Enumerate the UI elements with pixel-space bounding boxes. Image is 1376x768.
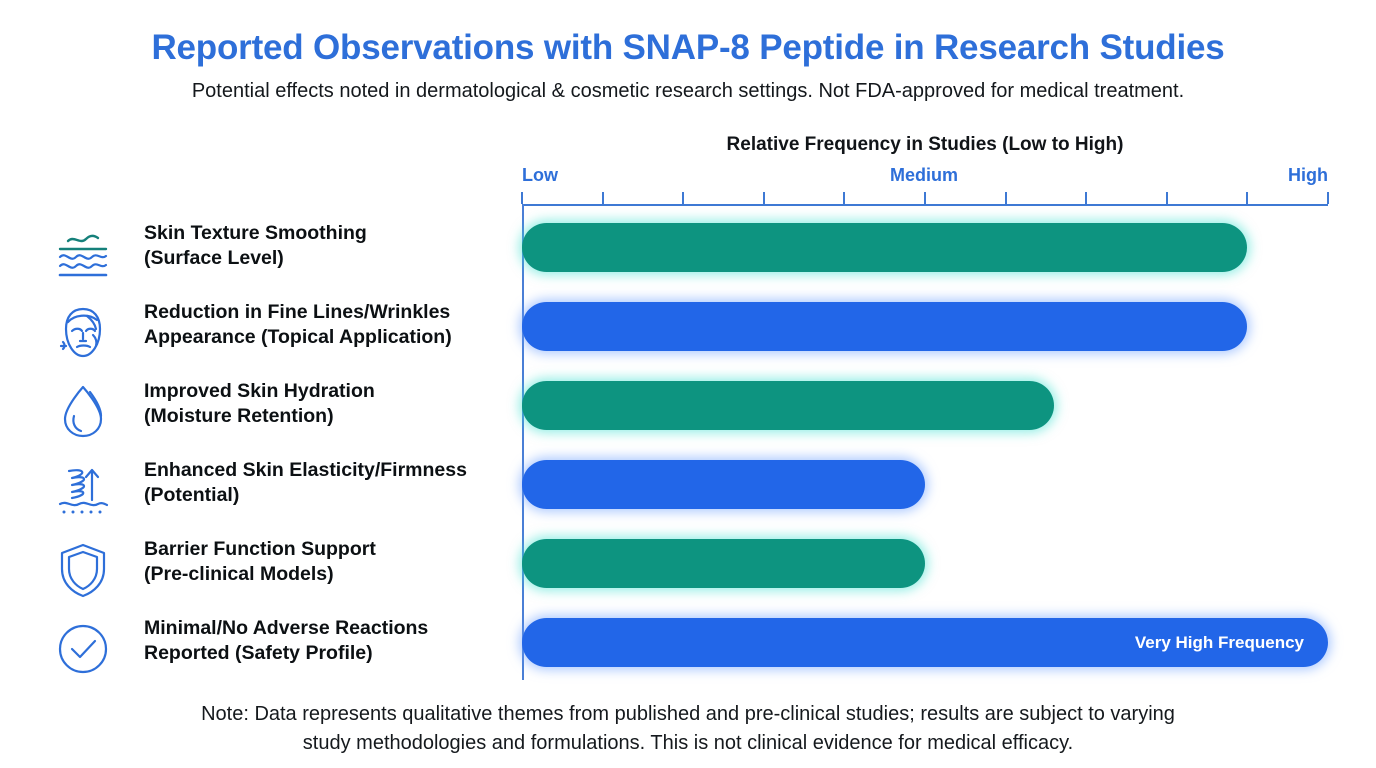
footer-note-line-2: study methodologies and formulations. Th… [38, 729, 1338, 758]
wavy-lines-icon [52, 223, 114, 285]
bar-value-label: Very High Frequency [1135, 633, 1328, 653]
bar-row-label: Enhanced Skin Elasticity/Firmness (Poten… [144, 458, 524, 508]
footer-note-line-1: Note: Data represents qualitative themes… [38, 700, 1338, 729]
axis-tick-label-low: Low [522, 165, 558, 186]
page-title: Reported Observations with SNAP-8 Peptid… [0, 28, 1376, 68]
bar-row: Skin Texture Smoothing (Surface Level) [0, 223, 1376, 302]
bar-row-label: Skin Texture Smoothing (Surface Level) [144, 221, 524, 271]
infographic-canvas: Reported Observations with SNAP-8 Peptid… [0, 0, 1376, 768]
axis-tick [1246, 192, 1248, 204]
bar-track [522, 381, 1328, 430]
axis-title: Relative Frequency in Studies (Low to Hi… [522, 134, 1328, 156]
bar-row: Barrier Function Support (Pre-clinical M… [0, 539, 1376, 618]
bar-row: Improved Skin Hydration (Moisture Retent… [0, 381, 1376, 460]
axis-line [522, 204, 1328, 206]
axis-tick [682, 192, 684, 204]
bar-track [522, 460, 1328, 509]
bar[interactable] [522, 302, 1247, 351]
bar-row-label: Reduction in Fine Lines/Wrinkles Appeara… [144, 300, 524, 350]
axis-tick [521, 192, 523, 204]
bar-row: Reduction in Fine Lines/Wrinkles Appeara… [0, 302, 1376, 381]
bar[interactable] [522, 539, 925, 588]
bar-row-label: Minimal/No Adverse Reactions Reported (S… [144, 616, 524, 666]
bar[interactable]: Very High Frequency [522, 618, 1328, 667]
axis-tick [1327, 192, 1329, 204]
bar-row: Enhanced Skin Elasticity/Firmness (Poten… [0, 460, 1376, 539]
spring-arrow-up-icon [52, 460, 114, 522]
axis-tick [602, 192, 604, 204]
page-subtitle: Potential effects noted in dermatologica… [0, 80, 1376, 103]
check-circle-icon [52, 618, 114, 680]
bar-track [522, 223, 1328, 272]
bar-row-label: Barrier Function Support (Pre-clinical M… [144, 537, 524, 587]
bar[interactable] [522, 223, 1247, 272]
axis-tick [924, 192, 926, 204]
footer-note: Note: Data represents qualitative themes… [38, 700, 1338, 758]
bar[interactable] [522, 381, 1054, 430]
axis-tick [1085, 192, 1087, 204]
bar-track [522, 302, 1328, 351]
axis-tick-label-high: High [1198, 165, 1328, 186]
bar-row: Minimal/No Adverse Reactions Reported (S… [0, 618, 1376, 697]
axis-tick [1005, 192, 1007, 204]
bar[interactable] [522, 460, 925, 509]
axis-tick [843, 192, 845, 204]
bar-track [522, 539, 1328, 588]
face-wrinkles-icon [52, 302, 114, 364]
axis-tick [763, 192, 765, 204]
axis-tick [1166, 192, 1168, 204]
water-droplet-icon [52, 381, 114, 443]
bar-track: Very High Frequency [522, 618, 1328, 667]
bar-row-label: Improved Skin Hydration (Moisture Retent… [144, 379, 524, 429]
axis-tick-label-medium: Medium [844, 165, 1004, 186]
shield-icon [52, 539, 114, 601]
